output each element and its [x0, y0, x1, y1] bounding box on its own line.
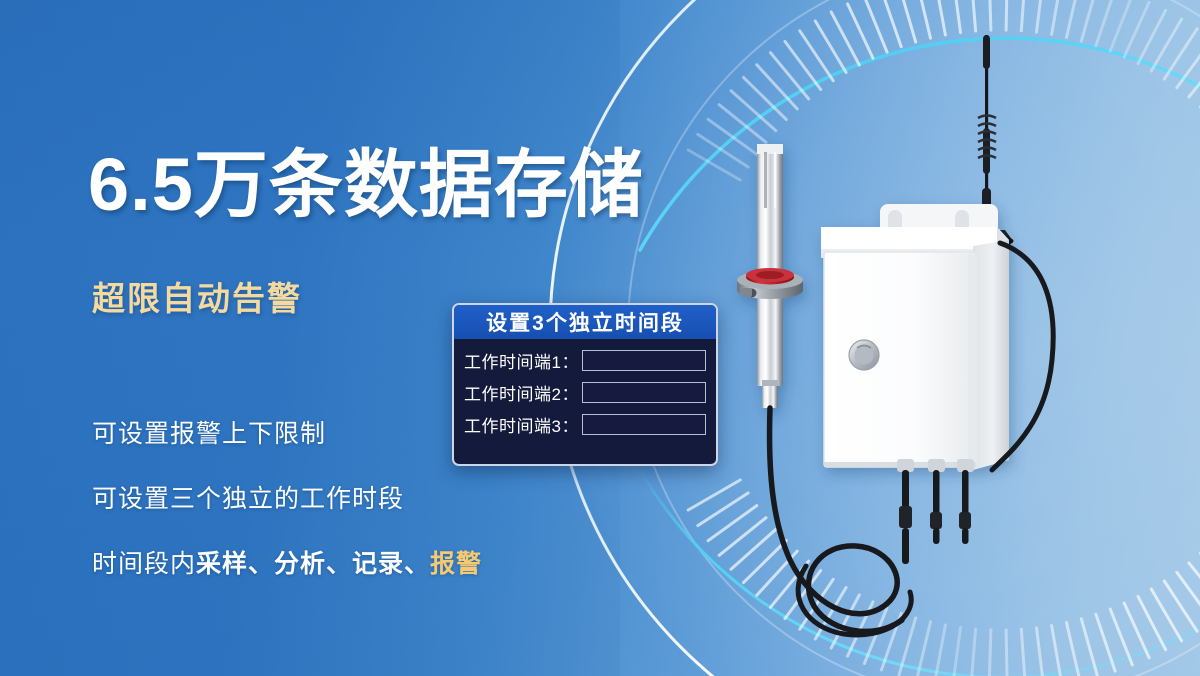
panel-body: 工作时间端1： 工作时间端2： 工作时间端3： — [454, 339, 716, 443]
subtitle: 超限自动告警 — [92, 272, 302, 320]
cable-connector-icon — [897, 459, 974, 564]
work-period-3-input[interactable] — [582, 414, 706, 435]
panel-row-3-label: 工作时间端3： — [464, 412, 579, 437]
enclosure-box-icon — [821, 204, 1009, 470]
panel-header: 设置3个独立时间段 — [454, 305, 716, 339]
feature-3-bold: 采样、分析、记录、 — [196, 550, 430, 578]
feature-item-3: 时间段内采样、分析、记录、报警 — [92, 544, 652, 580]
page-title: 6.5万条数据存储 — [88, 146, 644, 224]
time-period-settings-panel: 设置3个独立时间段 工作时间端1： 工作时间端2： 工作时间端3： — [452, 303, 718, 466]
panel-row-1-label: 工作时间端1： — [464, 348, 579, 373]
feature-3-highlight: 报警 — [430, 550, 482, 578]
panel-title: 设置3个独立时间段 — [486, 307, 684, 337]
panel-row-3: 工作时间端3： — [464, 412, 706, 437]
feature-3-prefix: 时间段内 — [92, 550, 196, 578]
lock-knob-icon — [849, 340, 879, 370]
panel-row-2-label: 工作时间端2： — [464, 380, 579, 405]
probe-flange — [737, 268, 803, 299]
product-banner: 6.5万条数据存储 超限自动告警 可设置报警上下限制 可设置三个独立的工作时段 … — [0, 0, 1200, 676]
work-period-2-input[interactable] — [582, 382, 706, 403]
probe-sensor-icon — [737, 144, 803, 408]
work-period-1-input[interactable] — [582, 350, 706, 371]
panel-row-2: 工作时间端2： — [464, 380, 706, 405]
panel-row-1: 工作时间端1： — [464, 348, 706, 373]
feature-item-2: 可设置三个独立的工作时段 — [92, 479, 652, 515]
